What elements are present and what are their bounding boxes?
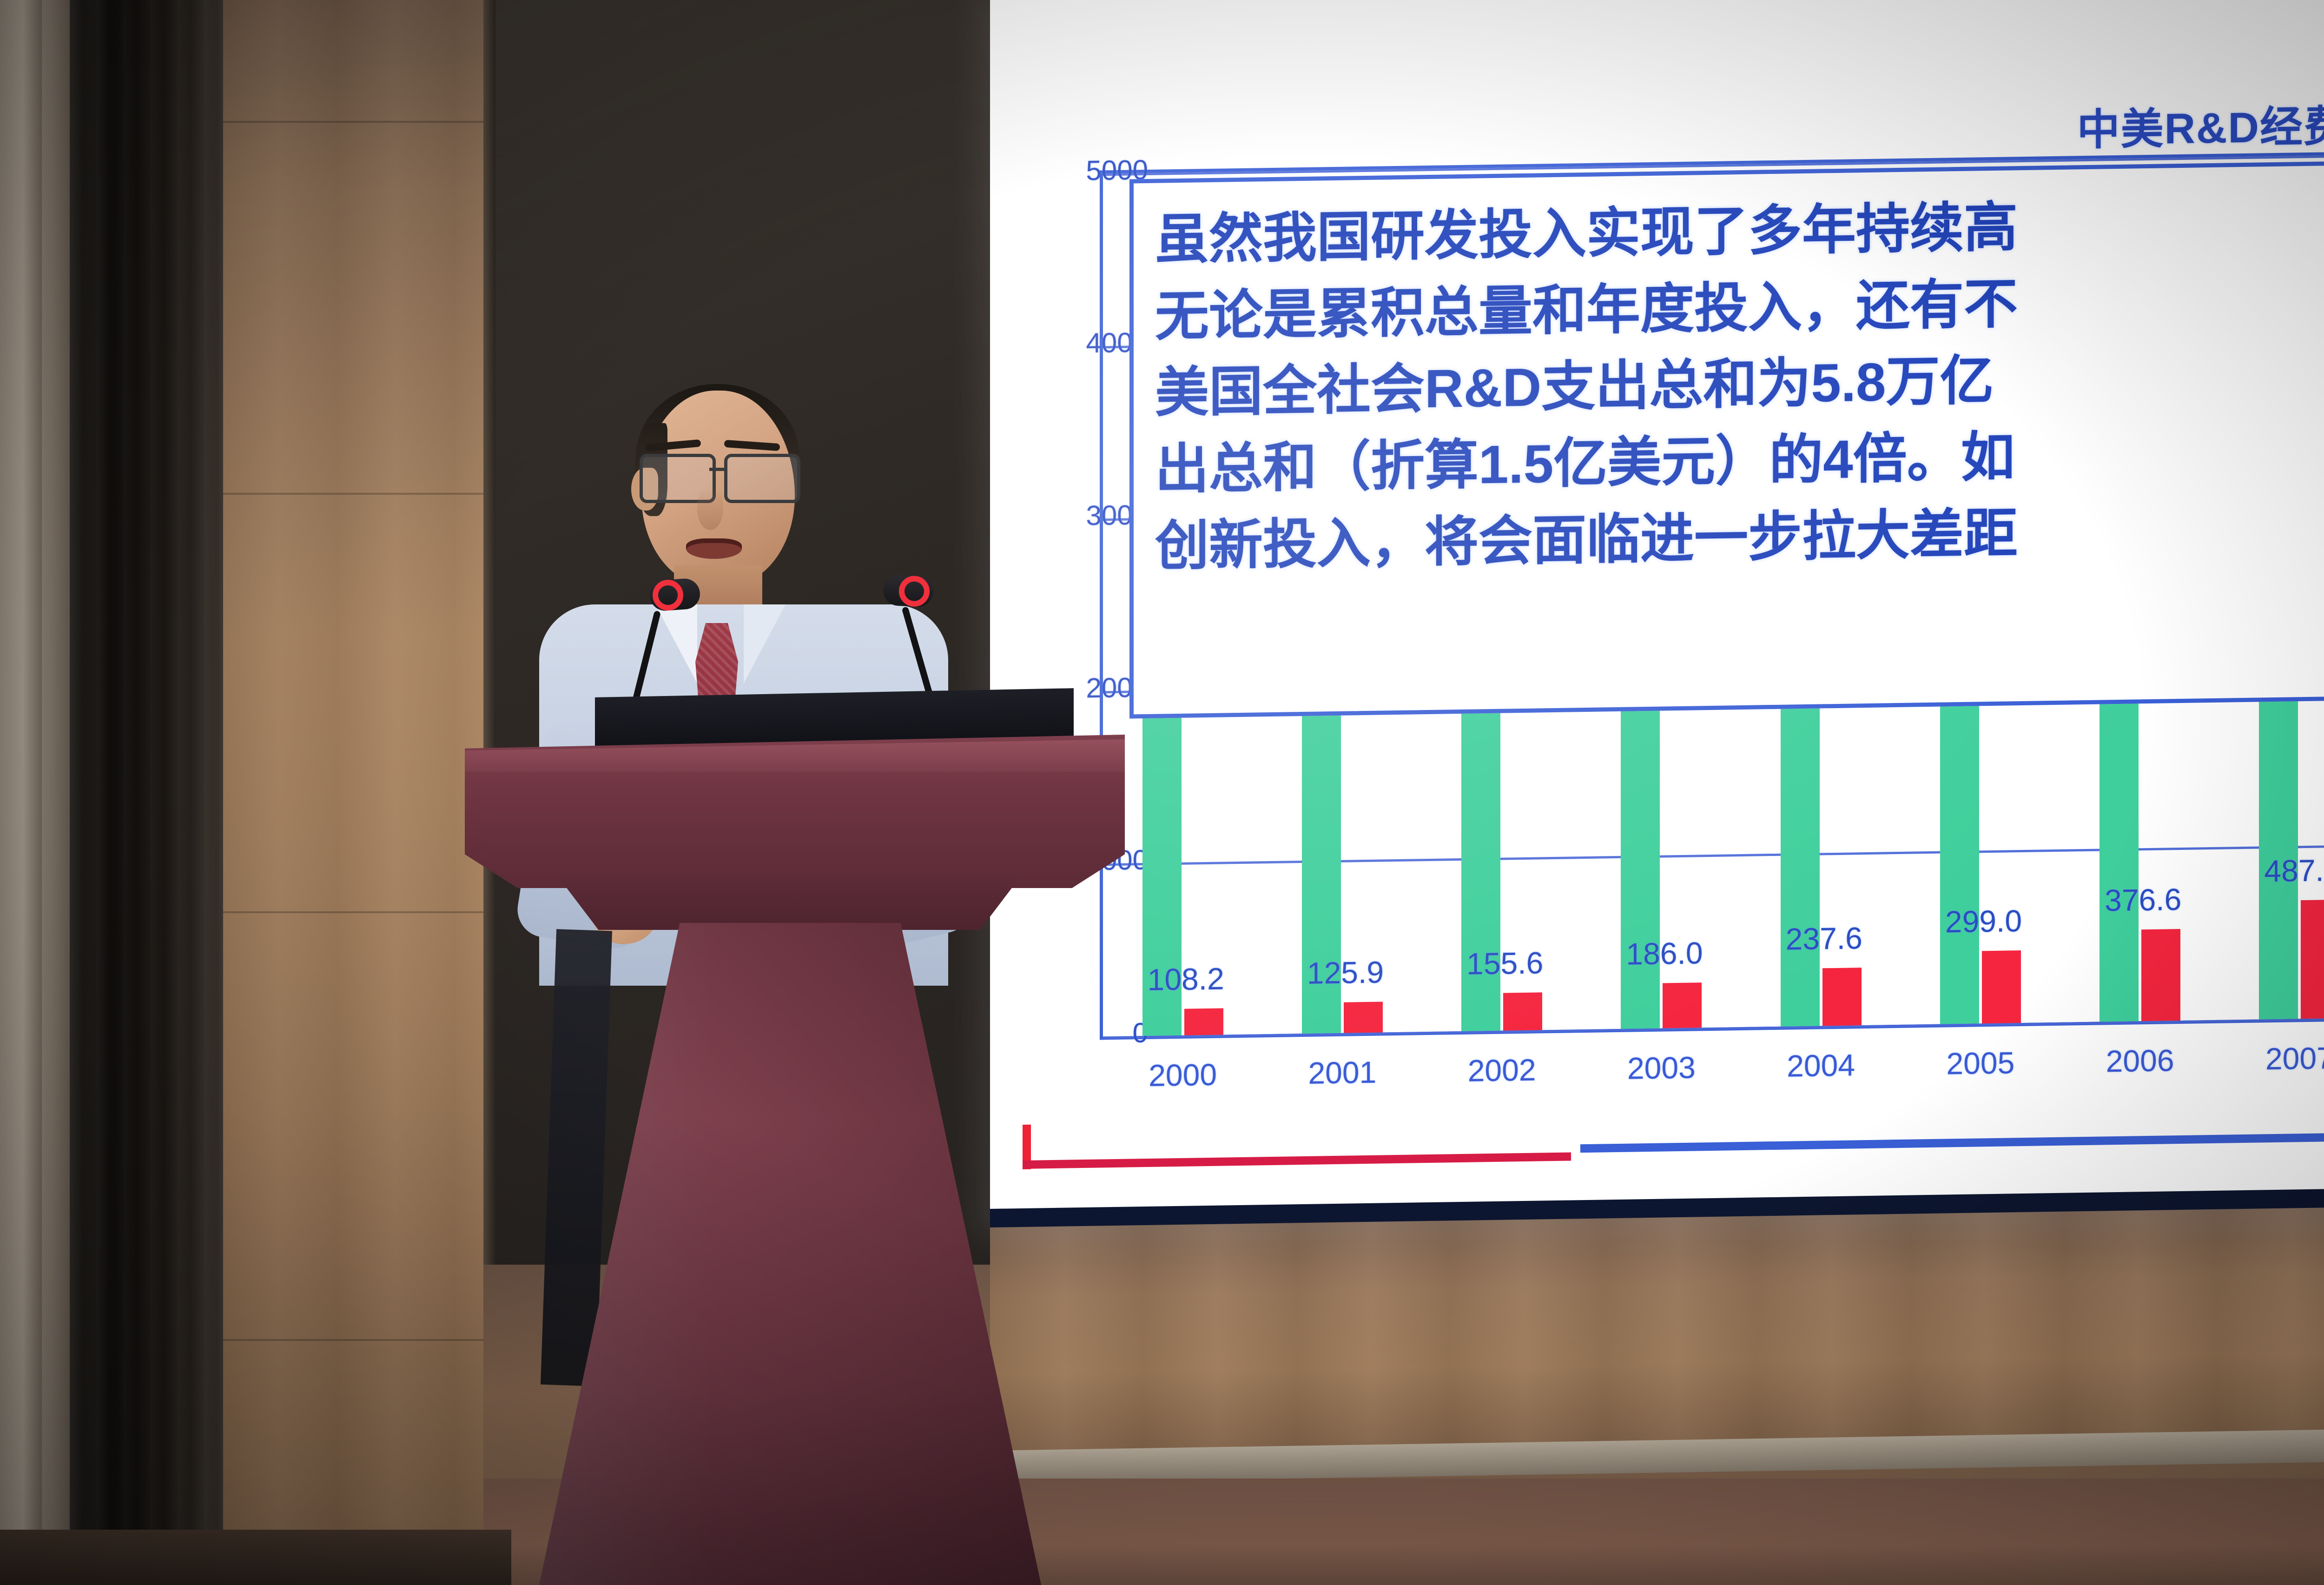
collar-right — [744, 604, 786, 683]
bar-value-label: 487.7 — [2264, 852, 2324, 889]
glasses-bridge — [709, 468, 724, 471]
x-tick-label: 2006 — [2060, 1042, 2220, 1080]
bar-value-label: 108.2 — [1148, 961, 1224, 997]
chart-x-axis: 20002001200220032004200520062007 — [1103, 1040, 2324, 1094]
stage-floor-left — [0, 1530, 511, 1585]
lectern-neck — [524, 874, 1054, 930]
wood-panel-wall-left — [223, 0, 483, 1585]
x-tick-label: 2002 — [1422, 1051, 1582, 1089]
bar-china — [1822, 968, 1862, 1026]
x-tick-label: 2005 — [1901, 1044, 2060, 1082]
bar-china — [1503, 992, 1542, 1031]
bar-value-label: 376.6 — [2105, 882, 2181, 918]
slide-callout-box: 虽然我国研发投入实现了多年持续高 无论是累积总量和年度投入，还有不 美国全社会R… — [1129, 160, 2324, 718]
gooseneck-mic-head-right — [882, 574, 934, 608]
bar-china — [1344, 1002, 1383, 1033]
bar-value-label: 299.0 — [1945, 903, 2022, 939]
bar-value-label: 155.6 — [1466, 945, 1543, 981]
bar-china — [1663, 982, 1702, 1028]
lens-right — [724, 454, 800, 503]
stage-curtain-dark — [70, 0, 223, 1585]
bar-china — [2141, 929, 2180, 1021]
x-tick-label: 2000 — [1103, 1056, 1262, 1094]
gooseneck-mic-head-left — [649, 577, 701, 611]
curtain-light-edge — [0, 0, 42, 1585]
x-tick-label: 2003 — [1582, 1049, 1741, 1087]
presentation-slide: 中美R&D经费支 5000 4000 3000 2000 1000 0 108.… — [990, 0, 2324, 1209]
x-tick-label: 2007 — [2220, 1040, 2324, 1077]
dark-wall-edge — [483, 0, 495, 1283]
bar-china — [1982, 950, 2021, 1024]
slide-deco-blue-line — [1580, 1133, 2324, 1153]
x-tick-label: 2001 — [1262, 1054, 1422, 1091]
bar-value-label: 125.9 — [1307, 955, 1384, 991]
bar-value-label: 186.0 — [1626, 935, 1703, 971]
bar-value-label: 237.6 — [1786, 920, 1862, 956]
screenshot-root: 中美R&D经费支 5000 4000 3000 2000 1000 0 108.… — [0, 0, 2324, 1585]
slide-deco-red-line — [1023, 1152, 1571, 1169]
collar-left — [655, 604, 697, 683]
mic-led-ring-right — [898, 575, 930, 607]
mouth — [686, 538, 742, 559]
projection-screen: 中美R&D经费支 5000 4000 3000 2000 1000 0 108.… — [990, 0, 2324, 1209]
slide-title: 中美R&D经费支 — [2077, 91, 2324, 157]
bar-china — [1184, 1008, 1223, 1035]
mic-led-ring-left — [652, 579, 684, 611]
nose — [697, 488, 723, 530]
bar-china — [2301, 900, 2324, 1019]
x-tick-label: 2004 — [1741, 1047, 1901, 1084]
